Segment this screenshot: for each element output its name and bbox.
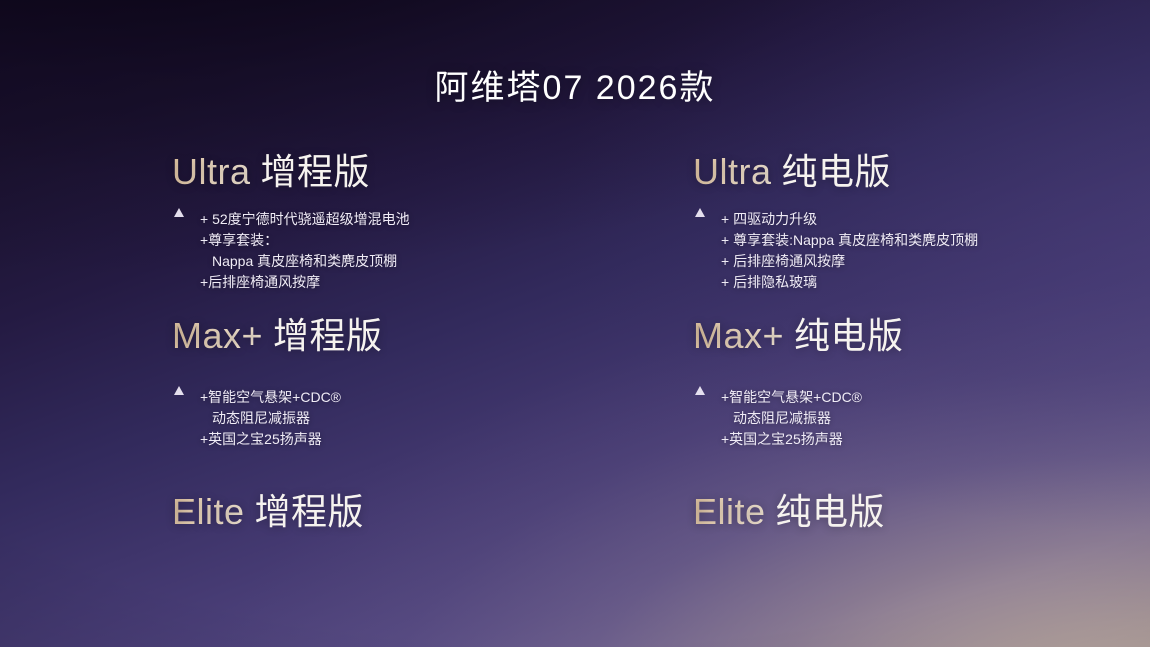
feature-item: +后排座椅通风按摩 <box>200 272 410 293</box>
feature-item: +智能空气悬架+CDC® <box>721 387 862 408</box>
feature-group-maxplus-range-extender: +智能空气悬架+CDC® 动态阻尼减振器 +英国之宝25扬声器 <box>172 360 575 488</box>
feature-item: Nappa 真皮座椅和类麂皮顶棚 <box>200 251 410 272</box>
trim-latin-label: Max+ <box>172 315 263 356</box>
feature-group-ultra-pure-electric: + 四驱动力升级 + 尊享套装:Nappa 真皮座椅和类麂皮顶棚 + 后排座椅通… <box>693 196 1150 312</box>
feature-item: 动态阻尼减振器 <box>200 408 341 429</box>
feature-item: + 后排隐私玻璃 <box>721 272 978 293</box>
trim-comparison-columns: Ultra增程版 + 52度宁德时代骁遥超级增混电池 +尊享套装： Nappa … <box>0 148 1150 536</box>
feature-group-maxplus-pure-electric: +智能空气悬架+CDC® 动态阻尼减振器 +英国之宝25扬声器 <box>693 360 1150 488</box>
feature-item: +英国之宝25扬声器 <box>721 429 862 450</box>
trim-elite-pure-electric[interactable]: Elite纯电版 <box>693 488 1150 536</box>
trim-latin-label: Ultra <box>172 151 251 192</box>
trim-maxplus-range-extender[interactable]: Max+增程版 <box>172 312 575 360</box>
slide-title: 阿维塔07 2026款 <box>0 60 1150 109</box>
column-pure-electric: Ultra纯电版 + 四驱动力升级 + 尊享套装:Nappa 真皮座椅和类麂皮顶… <box>575 148 1150 536</box>
feature-item: + 后排座椅通风按摩 <box>721 251 978 272</box>
trim-cjk-label: 增程版 <box>255 491 365 532</box>
feature-list: + 52度宁德时代骁遥超级增混电池 +尊享套装： Nappa 真皮座椅和类麂皮顶… <box>200 208 410 293</box>
feature-list: +智能空气悬架+CDC® 动态阻尼减振器 +英国之宝25扬声器 <box>721 386 862 450</box>
trim-elite-range-extender[interactable]: Elite增程版 <box>172 488 575 536</box>
trim-cjk-label: 增程版 <box>261 151 371 192</box>
trim-cjk-label: 纯电版 <box>782 151 892 192</box>
trim-ultra-range-extender[interactable]: Ultra增程版 <box>172 148 575 196</box>
feature-list: + 四驱动力升级 + 尊享套装:Nappa 真皮座椅和类麂皮顶棚 + 后排座椅通… <box>721 208 978 293</box>
feature-item: +尊享套装： <box>200 230 410 251</box>
feature-list: +智能空气悬架+CDC® 动态阻尼减振器 +英国之宝25扬声器 <box>200 386 341 450</box>
feature-item: + 52度宁德时代骁遥超级增混电池 <box>200 209 410 230</box>
trim-latin-label: Elite <box>693 491 766 532</box>
feature-item: 动态阻尼减振器 <box>721 408 862 429</box>
trim-cjk-label: 增程版 <box>273 315 383 356</box>
feature-item: +智能空气悬架+CDC® <box>200 387 341 408</box>
feature-item: + 尊享套装:Nappa 真皮座椅和类麂皮顶棚 <box>721 230 978 251</box>
trim-maxplus-pure-electric[interactable]: Max+纯电版 <box>693 312 1150 360</box>
presentation-slide: 阿维塔07 2026款 Ultra增程版 + 52度宁德时代骁遥超级增混电池 +… <box>0 0 1150 647</box>
trim-ultra-pure-electric[interactable]: Ultra纯电版 <box>693 148 1150 196</box>
trim-cjk-label: 纯电版 <box>794 315 904 356</box>
trim-cjk-label: 纯电版 <box>776 491 886 532</box>
feature-item: + 四驱动力升级 <box>721 209 978 230</box>
trim-latin-label: Max+ <box>693 315 784 356</box>
feature-group-ultra-range-extender: + 52度宁德时代骁遥超级增混电池 +尊享套装： Nappa 真皮座椅和类麂皮顶… <box>172 196 575 312</box>
column-range-extender: Ultra增程版 + 52度宁德时代骁遥超级增混电池 +尊享套装： Nappa … <box>0 148 575 536</box>
trim-latin-label: Ultra <box>693 151 772 192</box>
feature-item: +英国之宝25扬声器 <box>200 429 341 450</box>
trim-latin-label: Elite <box>172 491 245 532</box>
